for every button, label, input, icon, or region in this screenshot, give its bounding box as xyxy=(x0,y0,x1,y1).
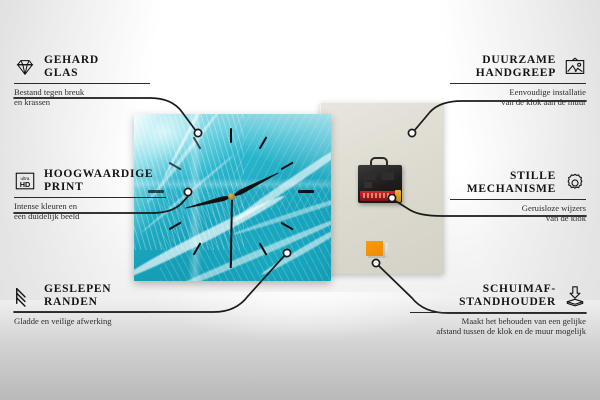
feature-divider xyxy=(450,199,586,200)
feature-title: DUURZAME HANDGREEP xyxy=(476,54,556,79)
feature-geslepen-randen[interactable]: GESLEPEN RANDEN Gladde en veilige afwerk… xyxy=(14,283,150,326)
infographic-canvas: GEHARD GLAS Bestand tegen breuk en krass… xyxy=(0,0,600,400)
svg-text:HD: HD xyxy=(20,179,31,188)
arrow-press-pad-icon xyxy=(564,285,586,307)
feature-divider xyxy=(450,83,586,84)
feature-description: Gladde en veilige afwerking xyxy=(14,316,150,326)
callout-dot-schuimafstandhouder xyxy=(372,259,379,266)
feature-title: GEHARD GLAS xyxy=(44,54,99,79)
bevelled-edge-icon xyxy=(14,285,36,307)
feature-schuimafstandhouder[interactable]: SCHUIMAF- STANDHOUDER Maakt het behouden… xyxy=(410,283,586,336)
feature-gehard-glas[interactable]: GEHARD GLAS Bestand tegen breuk en krass… xyxy=(14,54,150,107)
feature-title: SCHUIMAF- STANDHOUDER xyxy=(459,283,556,308)
feature-description: Eenvoudige installatie van de klok aan d… xyxy=(450,87,586,107)
feature-hoogwaardige-print[interactable]: ultra HD HOOGWAARDIGE PRINT Intense kleu… xyxy=(14,168,166,221)
picture-frame-icon xyxy=(564,56,586,78)
ultra-hd-icon: ultra HD xyxy=(14,170,36,192)
feature-duurzame-handgreep[interactable]: DUURZAME HANDGREEP Eenvoudige installati… xyxy=(450,54,586,107)
feature-description: Bestand tegen breuk en krassen xyxy=(14,87,150,107)
callout-dot-stille-mechanisme xyxy=(388,194,395,201)
diamond-icon xyxy=(14,56,36,78)
callout-dot-duurzame-handgreep xyxy=(408,129,415,136)
feature-description: Geruisloze wijzers van de klok xyxy=(450,203,586,223)
callout-dot-gehard-glas xyxy=(194,129,201,136)
feature-description: Maakt het behouden van een gelijke afsta… xyxy=(410,316,586,336)
feature-title: GESLEPEN RANDEN xyxy=(44,283,111,308)
feature-divider xyxy=(14,83,150,84)
feature-divider xyxy=(14,312,150,313)
feature-title: HOOGWAARDIGE PRINT xyxy=(44,168,153,193)
gear-icon xyxy=(564,172,586,194)
callout-dot-hoogwaardige-print xyxy=(184,188,191,195)
callout-dot-geslepen-randen xyxy=(283,249,290,256)
feature-title: STILLE MECHANISME xyxy=(467,170,556,195)
feature-stille-mechanisme[interactable]: STILLE MECHANISME Geruisloze wijzers van… xyxy=(450,170,586,223)
feature-divider xyxy=(410,312,586,313)
feature-description: Intense kleuren en een duidelijk beeld xyxy=(14,201,166,221)
feature-divider xyxy=(14,197,166,198)
